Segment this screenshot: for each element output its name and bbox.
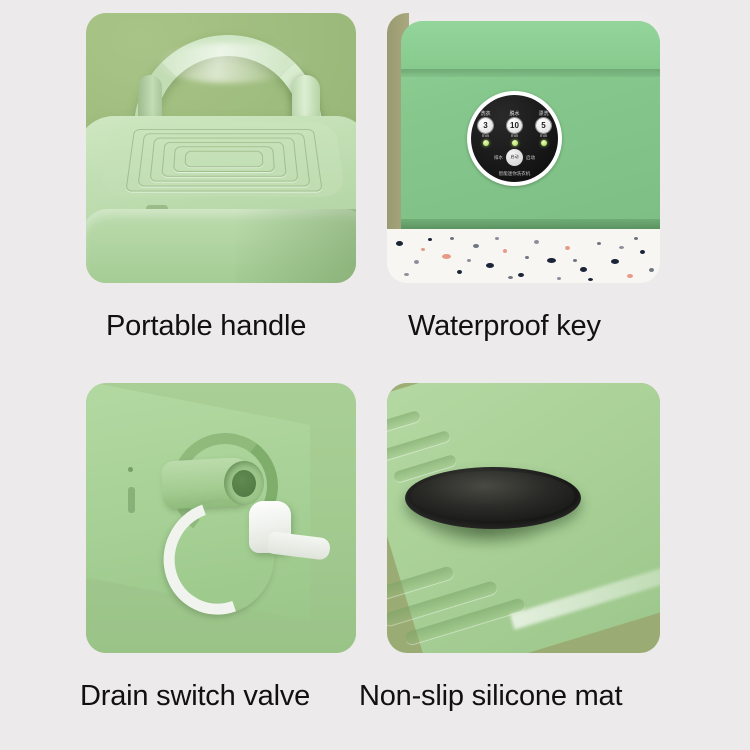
dial-key-label-cn: 洗衣 [480, 111, 490, 117]
terrazzo-counter [387, 229, 660, 283]
caption-non-slip-silicone-mat: Non-slip silicone mat [359, 680, 622, 713]
dial-key-rinse[interactable]: 漂洗 5 min [533, 111, 555, 146]
dial-key-unit: min [482, 133, 489, 139]
lid-concentric-ribs [126, 129, 321, 189]
dial-key-unit: min [511, 133, 518, 139]
led-indicator-icon [541, 140, 547, 146]
start-pause-button[interactable]: 启动 [506, 149, 523, 166]
dial-right-label: 启动 [526, 155, 535, 161]
led-indicator-icon [512, 140, 518, 146]
control-dial[interactable]: 洗衣 3 min 脱水 10 min 漂洗 5 min [467, 91, 562, 186]
dial-key-row: 洗衣 3 min 脱水 10 min 漂洗 5 min [471, 111, 558, 146]
silicone-pad-inner [411, 471, 575, 521]
feature-image-drain-switch-valve [86, 383, 356, 653]
dial-key-wash[interactable]: 洗衣 3 min [475, 111, 497, 146]
feature-image-non-slip-silicone-mat [387, 383, 660, 653]
feature-grid: Portable handle 洗衣 3 min 脱水 10 [0, 0, 750, 750]
wall-notch [128, 487, 135, 513]
lid-seam-line [401, 69, 660, 77]
body-shading [236, 209, 356, 283]
dial-key-value: 5 [536, 118, 551, 133]
dial-face: 洗衣 3 min 脱水 10 min 漂洗 5 min [471, 95, 558, 182]
machine-lid [401, 21, 660, 73]
feature-image-waterproof-key: 洗衣 3 min 脱水 10 min 漂洗 5 min [387, 13, 660, 283]
dial-bottom-row: 排水 启动 启动 [471, 149, 558, 166]
base-seam-line [401, 219, 660, 229]
caption-portable-handle: Portable handle [106, 310, 306, 343]
led-indicator-icon [483, 140, 489, 146]
caption-drain-switch-valve: Drain switch valve [80, 680, 310, 713]
handle-highlight [156, 43, 306, 83]
drain-spout-opening [224, 461, 264, 505]
dial-key-unit: min [540, 133, 547, 139]
dial-key-label-cn: 脱水 [509, 111, 519, 117]
wall-screw-dot [128, 467, 133, 472]
dial-key-value: 3 [478, 118, 493, 133]
dial-left-label: 排水 [494, 155, 503, 161]
dial-key-label-cn: 漂洗 [538, 111, 548, 117]
dial-key-value: 10 [507, 118, 522, 133]
dial-footer-label: 智能迷你洗衣机 [471, 171, 558, 177]
feature-image-portable-handle [86, 13, 356, 283]
dial-key-spin[interactable]: 脱水 10 min [504, 111, 526, 146]
caption-waterproof-key: Waterproof key [408, 310, 601, 343]
